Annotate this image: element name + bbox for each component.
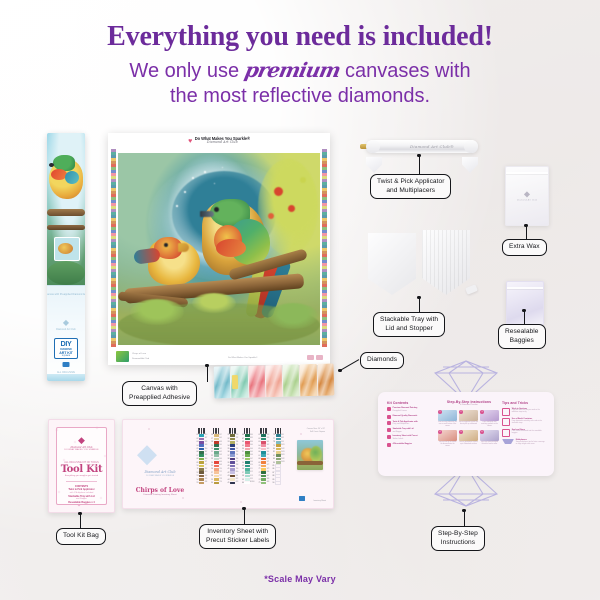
diamond-packet xyxy=(283,364,300,396)
inventory-color-code: 797 xyxy=(236,462,239,463)
instruction-step-image: 1 xyxy=(438,410,457,421)
subtitle-post: canvases with xyxy=(345,60,471,82)
inventory-row-number: 68 xyxy=(257,458,260,460)
inventory-row-number: 26 xyxy=(210,468,213,470)
inventory-color-column: 1643717445184981950020501215022250323504… xyxy=(210,426,223,485)
inventory-color-code: 3053 xyxy=(281,462,284,463)
kit-contents-text: Inventory Sheet with PrecutSticker Label… xyxy=(393,435,433,440)
inventory-color-swatch xyxy=(230,448,235,451)
inventory-color-code: 890 xyxy=(250,435,253,436)
inventory-color-code: 796 xyxy=(236,459,239,460)
inventory-row-number: 81 xyxy=(272,451,275,453)
inventory-row: 60B5200 xyxy=(241,481,254,484)
inventory-color-swatch xyxy=(214,458,219,461)
inventory-color-swatch xyxy=(199,478,204,481)
inventory-row: 15436 xyxy=(195,481,208,484)
inventory-color-swatch xyxy=(276,444,281,447)
canvas-footer: Chirps of Love Diamond Art Club Do What … xyxy=(108,347,330,365)
inventory-color-code: 792 xyxy=(236,449,239,450)
inventory-color-code: 793 xyxy=(236,452,239,453)
inventory-row-number: 77 xyxy=(272,438,275,440)
kit-contents-item-desc: and Stopper xyxy=(393,431,433,433)
inventory-color-swatch xyxy=(261,465,266,468)
callout-tool-kit[interactable]: Tool Kit Bag xyxy=(56,528,106,545)
inventory-color-code: 959 xyxy=(267,438,270,439)
kit-contents-item-desc: Preapplied Canvas xyxy=(393,410,433,412)
inventory-color-swatch xyxy=(245,454,250,457)
subtitle-script-word: premium xyxy=(242,58,342,83)
callout-canvas-l2: Preapplied Adhesive xyxy=(129,394,190,401)
canvas-thumbnail-icon xyxy=(116,351,129,362)
callout-extra-wax[interactable]: Extra Wax xyxy=(502,239,547,256)
inventory-color-swatch xyxy=(214,471,219,474)
inventory-color-code: 368 xyxy=(205,455,208,456)
inventory-row-number: 09 xyxy=(195,462,198,464)
steps-grid: 1Peel back the protective film over a sm… xyxy=(438,410,500,448)
callout-applicator-l2: and Multiplacers xyxy=(386,187,435,194)
callout-canvas-l1: Canvas with xyxy=(141,385,177,392)
inventory-row-number: 63 xyxy=(257,441,260,443)
inventory-color-code: 606 xyxy=(219,462,222,463)
pen-brand-text: Diamond Art Club® xyxy=(410,144,454,149)
inventory-color-code: 392 xyxy=(205,469,208,470)
inventory-row: 30729 xyxy=(210,481,223,484)
inventory-color-code: 504 xyxy=(219,459,222,460)
inventory-row-number: 29 xyxy=(210,479,213,481)
inventory-color-code: 435 xyxy=(205,479,208,480)
inventory-row-number: 32 xyxy=(226,438,229,440)
inventory-artwork-thumbnail xyxy=(297,440,323,470)
kit-contents-bullet-icon xyxy=(387,415,391,419)
diy-badge: DIY DIAMOND ART KIT SQUARE xyxy=(54,338,78,359)
inventory-row-number: 69 xyxy=(257,462,260,464)
inventory-color-column: 4689047895488994990050904519055290653907… xyxy=(241,426,254,485)
inventory-row-number: 48 xyxy=(241,441,244,443)
sleeve-flag-icon xyxy=(63,362,70,367)
leader-line-tray xyxy=(419,298,420,312)
leader-line-toolkit xyxy=(80,514,81,528)
inventory-color-code: 369 xyxy=(205,459,208,460)
inventory-color-swatch xyxy=(261,475,266,478)
tips-heading: Tips and Tricks xyxy=(502,401,546,405)
inventory-color-code: 732 xyxy=(236,438,239,439)
heart-icon: ♥ xyxy=(188,138,192,145)
inventory-color-swatch xyxy=(214,465,219,468)
inventory-color-swatch xyxy=(245,478,250,481)
inventory-row-number: 65 xyxy=(257,448,260,450)
toolkit-item-name: Resealable Baggies x 4 xyxy=(57,501,106,504)
inventory-row-number: 31 xyxy=(226,434,229,436)
instruction-step-caption: Dip the applicator tip into the wax to p… xyxy=(459,422,478,426)
inventory-color-swatch xyxy=(261,471,266,474)
leader-line-instructions xyxy=(464,511,465,526)
inventory-row-number: 25 xyxy=(210,465,213,467)
inventory-row-number: 78 xyxy=(272,441,275,443)
inventory-row-number: 79 xyxy=(272,445,275,447)
callout-tool-kit-l1: Tool Kit Bag xyxy=(63,532,99,539)
inventory-color-swatch xyxy=(199,438,204,441)
inventory-row-number: 45 xyxy=(226,482,229,484)
inventory-row-number: 15 xyxy=(195,482,198,484)
inventory-row-number: 86 xyxy=(272,468,275,470)
diamond-packet xyxy=(231,366,248,398)
inventory-color-code: 501 xyxy=(219,449,222,450)
tip-text: MultiplacersSwap multiplacer tips for fa… xyxy=(516,439,546,446)
leader-line-applicator xyxy=(419,156,420,174)
inventory-color-code: 327 xyxy=(205,438,208,439)
inventory-color-code: 801 xyxy=(236,476,239,477)
canvas-foot-title: Chirps of Love xyxy=(132,353,146,355)
canvas-brand: Diamond Art Club xyxy=(207,141,238,144)
leader-line-diamonds xyxy=(340,359,360,371)
kit-contents-item: Twist & Pick Applicator withPutty and Mu… xyxy=(387,421,433,426)
inventory-color-code: 906 xyxy=(250,455,253,456)
instruction-step-caption: Use the multiplacer to place up to 9 dia… xyxy=(459,442,478,446)
inventory-color-code: 971 xyxy=(267,462,270,463)
scale-disclaimer: *Scale May Vary xyxy=(0,574,600,584)
tip-multiplacer-icon xyxy=(502,439,514,444)
inventory-row-number: 13 xyxy=(195,475,198,477)
instruction-step-caption: Place diamonds onto matching symbols on … xyxy=(480,422,499,428)
inventory-row-number: 90 xyxy=(272,482,275,484)
inventory-bottom-note: Inventory Sheet xyxy=(313,500,326,502)
extra-wax-bag: ◆ Diamond Art Club xyxy=(505,166,549,226)
inventory-color-swatch xyxy=(230,454,235,457)
inventory-row-number: 12 xyxy=(195,472,198,474)
toolkit-diamond-icon: ◆ xyxy=(57,435,106,446)
inventory-color-code: 420 xyxy=(205,472,208,473)
callout-diamonds[interactable]: Diamonds xyxy=(360,352,404,369)
inventory-color-code: 800 xyxy=(236,472,239,473)
inventory-color-swatch xyxy=(199,441,204,444)
inventory-color-code: 433 xyxy=(205,476,208,477)
inventory-color-swatch xyxy=(199,458,204,461)
inventory-color-swatch xyxy=(214,454,219,457)
inventory-row-number: 62 xyxy=(257,438,260,440)
inventory-row-number: 75 xyxy=(257,482,260,484)
kit-contents-text: Stackable Tray with Lidand Stopper xyxy=(393,428,433,433)
kit-contents-item-name: Diamond Quality Diamonds xyxy=(393,415,433,418)
instruction-step-number: 6 xyxy=(480,430,484,434)
tip-item: MultiplacersSwap multiplacer tips for fa… xyxy=(502,439,546,446)
kit-contents-item: Stackable Tray with Lidand Stopper xyxy=(387,428,433,433)
inventory-color-code: 822 xyxy=(236,479,239,480)
inventory-color-swatch xyxy=(230,468,235,471)
inventory-color-swatch xyxy=(261,482,266,485)
inventory-row-number: 76 xyxy=(272,434,275,436)
inventory-color-swatch xyxy=(199,465,204,468)
inventory-row-number: 57 xyxy=(241,472,244,474)
inventory-color-swatch xyxy=(230,471,235,474)
inventory-color-columns: 0131002327033330434005350063670736808369… xyxy=(195,426,285,485)
inventory-row-number: 46 xyxy=(241,434,244,436)
inventory-row-number: 27 xyxy=(210,472,213,474)
inventory-color-swatch xyxy=(261,441,266,444)
inventory-color-code: 958 xyxy=(267,435,270,436)
tip-item: Use a Washi ContainerKeep diamonds sorte… xyxy=(502,418,546,426)
inventory-color-swatch xyxy=(245,441,250,444)
inventory-row-number: 01 xyxy=(195,434,198,436)
inventory-row-number: 33 xyxy=(226,441,229,443)
tip-item: Work in SectionsOnly peel back the film … xyxy=(502,408,546,416)
inventory-color-swatch xyxy=(261,438,266,441)
inventory-color-swatch xyxy=(230,458,235,461)
sleeve-info-panel: Premium Canvas with Preapplied Diamond A… xyxy=(47,285,85,381)
inventory-row-number: 43 xyxy=(226,475,229,477)
inventory-row-number: 64 xyxy=(257,445,260,447)
inventory-color-code: 3013 xyxy=(281,452,284,453)
stackable-tray-lid xyxy=(368,233,416,295)
inventory-color-code: 720 xyxy=(219,469,222,470)
inventory-color-code: 963 xyxy=(267,449,270,450)
callout-applicator[interactable]: Twist & Pick Applicatorand Multiplacers xyxy=(370,174,451,199)
inventory-color-swatch xyxy=(214,482,219,485)
inventory-color-code: 445 xyxy=(219,438,222,439)
inventory-color-swatch xyxy=(199,448,204,451)
inventory-color-swatch xyxy=(230,482,235,485)
inventory-color-swatch xyxy=(230,461,235,464)
callout-baggies[interactable]: ResealableBaggies xyxy=(498,324,546,349)
callout-canvas[interactable]: Canvas withPreapplied Adhesive xyxy=(122,381,197,406)
inventory-color-swatch xyxy=(245,448,250,451)
inventory-row-number: 73 xyxy=(257,475,260,477)
inventory-column-group: 6195862959639616496265963669646796668970… xyxy=(257,426,285,485)
kit-contents-item-desc: Putty and Multiplacers xyxy=(393,423,433,425)
inventory-color-code: 966 xyxy=(267,455,270,456)
leader-line-inventory xyxy=(244,509,245,524)
inventory-color-swatch xyxy=(261,461,266,464)
tray-ridges xyxy=(422,230,470,295)
inventory-row-number: 72 xyxy=(257,472,260,474)
diy-badge-line4: SQUARE xyxy=(55,355,77,357)
kit-contents-bullet-icon xyxy=(387,443,391,447)
callout-instructions-l2: Instructions xyxy=(441,539,475,546)
inventory-color-swatch xyxy=(199,454,204,457)
toolkit-title: Tool Kit xyxy=(57,464,106,475)
inventory-color-code: 913 xyxy=(250,476,253,477)
inventory-color-swatch xyxy=(214,461,219,464)
inventory-color-code: 728 xyxy=(219,479,222,480)
inventory-row-number: 11 xyxy=(195,468,198,470)
inventory-color-code: 791 xyxy=(236,445,239,446)
instruction-step-number: 3 xyxy=(480,410,484,414)
inventory-color-code: 909 xyxy=(250,462,253,463)
inventory-row-number: 39 xyxy=(226,462,229,464)
inventory-row-number: 58 xyxy=(241,475,244,477)
inventory-color-swatch xyxy=(244,482,249,485)
tip-swatch-icon xyxy=(502,408,510,416)
instruction-step-number: 4 xyxy=(438,430,442,434)
canvas-header: ♥ Do What Makes You Sparkle® Diamond Art… xyxy=(108,133,330,149)
inventory-color-code: 993 xyxy=(281,442,284,443)
inventory-color-code: 973 xyxy=(267,469,270,470)
inventory-color-code: 500 xyxy=(219,445,222,446)
instruction-step-number: 2 xyxy=(459,410,463,414)
inventory-color-swatch xyxy=(245,434,250,437)
inventory-color-code: 367 xyxy=(205,452,208,453)
callout-instructions[interactable]: Step-By-StepInstructions xyxy=(431,526,485,551)
inventory-color-code: 340 xyxy=(205,445,208,446)
inventory-color-swatch xyxy=(276,448,281,451)
kit-contents-bullet-icon xyxy=(387,421,391,425)
kit-contents-item: Premium Diamond PaintingPreapplied Canva… xyxy=(387,407,433,412)
inventory-color-code: 989 xyxy=(267,482,270,483)
canvas-color-key-right xyxy=(322,149,327,347)
diamond-packet xyxy=(317,363,334,395)
kit-contents-item: Inventory Sheet with PrecutSticker Label… xyxy=(387,435,433,440)
inventory-color-code: 899 xyxy=(250,442,253,443)
inventory-color-swatch xyxy=(245,471,250,474)
inventory-note: Drill Count: Square xyxy=(307,431,325,434)
inventory-color-swatch xyxy=(276,434,281,437)
instruction-sheet-body: Kit Contents Premium Diamond PaintingPre… xyxy=(378,392,554,476)
sleeve-artwork xyxy=(47,133,85,285)
sticker-label-tabs xyxy=(241,426,254,434)
inventory-row-number: 08 xyxy=(195,458,198,460)
inventory-color-code: 912 xyxy=(250,472,253,473)
infographic-canvas: Everything you need is included! We only… xyxy=(0,0,600,600)
instruction-step-caption: Twist the tool tip to unload the diamond… xyxy=(438,442,457,448)
tips-section: Tips and Tricks Work in SectionsOnly pee… xyxy=(502,401,546,446)
inventory-color-column: 7699177992789937930118030128130138230518… xyxy=(272,426,285,485)
inventory-row-number: 82 xyxy=(272,455,275,457)
inventory-color-code: 905 xyxy=(250,452,253,453)
diamond-logo-icon: ◆ xyxy=(62,318,71,327)
inventory-color-swatch xyxy=(214,441,219,444)
steps-section: Step-By-Step Instructions & Diamond Trac… xyxy=(438,400,500,448)
tip-item: Seal and StorePour leftover diamonds int… xyxy=(502,429,546,437)
inventory-color-swatch xyxy=(261,458,266,461)
inventory-color-swatch xyxy=(245,468,250,471)
diamond-packet xyxy=(300,364,317,396)
kit-contents-bullet-icon xyxy=(387,407,391,411)
tips-list: Work in SectionsOnly peel back the film … xyxy=(502,408,546,447)
callout-inventory[interactable]: Inventory Sheet withPrecut Sticker Label… xyxy=(199,524,276,549)
inventory-row-number: 85 xyxy=(272,465,275,467)
subtitle-line2: the most reflective diamonds. xyxy=(0,84,600,109)
inventory-top-notes: Canvas Size: 20" x 20" Drill Count: Squa… xyxy=(307,428,325,433)
leader-line-baggies xyxy=(524,311,525,324)
page-title: Everything you need is included! xyxy=(0,22,600,51)
inventory-color-swatch xyxy=(214,475,219,478)
instruction-step-image: 4 xyxy=(438,430,457,441)
tip-text: Use a Washi ContainerKeep diamonds sorte… xyxy=(512,418,546,425)
inventory-column-group: 0131002327033330434005350063670736808369… xyxy=(195,426,223,485)
multiplacer-left xyxy=(366,157,382,173)
tool-kit-bag: ◆ Diamond Art Club DO WHAT MAKES YOU SPA… xyxy=(48,419,115,513)
stackable-tray xyxy=(422,230,470,295)
inventory-color-swatch xyxy=(261,454,266,457)
inventory-color-column: 3173032732337343479135792367933779438796… xyxy=(226,426,239,485)
inventory-row-number: 36 xyxy=(226,451,229,453)
toolkit-brand-sub: DO WHAT MAKES YOU SPARKLE xyxy=(57,449,106,452)
inventory-color-swatch xyxy=(230,451,235,454)
inventory-color-swatch xyxy=(245,465,250,468)
inventory-color-swatch xyxy=(199,461,204,464)
inventory-color-code: 987 xyxy=(267,476,270,477)
kit-contents-item-desc: Sticker Labels xyxy=(393,438,433,440)
inventory-color-swatch xyxy=(214,451,219,454)
inventory-color-swatch xyxy=(214,444,219,447)
inventory-color-swatch xyxy=(214,438,219,441)
tip-desc: Pour leftover diamonds into the resealab… xyxy=(512,431,546,435)
callout-baggies-l2: Baggies xyxy=(510,337,534,344)
wax-bag-logo: ◆ Diamond Art Club xyxy=(517,191,537,202)
diamond-packet xyxy=(248,365,265,397)
step-by-step-instruction-sheet: Kit Contents Premium Diamond PaintingPre… xyxy=(378,360,554,507)
callout-applicator-l1: Twist & Pick Applicator xyxy=(377,178,444,185)
diamond-packet xyxy=(214,366,231,398)
inventory-row-number: 60 xyxy=(241,482,244,484)
packet-label-icon xyxy=(232,375,238,389)
diamond-packet xyxy=(265,365,282,397)
inventory-color-code: 794 xyxy=(236,455,239,456)
callout-instructions-l1: Step-By-Step xyxy=(438,530,478,537)
inventory-color-code: 3052 xyxy=(281,459,284,460)
kit-contents-section: Kit Contents Premium Diamond PaintingPre… xyxy=(387,401,433,447)
inventory-color-swatch xyxy=(261,444,266,447)
inventory-color-swatch xyxy=(214,478,219,481)
toolkit-subtitle: Everything you need to get started xyxy=(57,475,106,478)
callout-tray[interactable]: Stackable Tray withLid and Stopper xyxy=(373,312,445,337)
sticker-label-tabs xyxy=(226,426,239,434)
inventory-color-swatch xyxy=(261,468,266,471)
instruction-step: 4Twist the tool tip to unload the diamon… xyxy=(438,430,457,448)
inventory-color-code: 823 xyxy=(236,482,239,483)
diamond-glyph-icon: ◆ xyxy=(517,191,537,199)
inventory-color-code: 3051 xyxy=(281,455,284,456)
canvas-artwork xyxy=(118,153,320,345)
inventory-color-code: 972 xyxy=(267,465,270,466)
inventory-row-number: 02 xyxy=(195,438,198,440)
instruction-step-number: 5 xyxy=(459,430,463,434)
kit-contents-bullet-icon xyxy=(387,435,391,439)
inventory-subtitle: Diamond Painting Inventory Sheet xyxy=(132,494,188,496)
inventory-color-code: 904 xyxy=(250,449,253,450)
canvas-foot-tagline: Do What Makes You Sparkle® xyxy=(228,357,257,359)
inventory-color-code: 799 xyxy=(236,469,239,470)
inventory-row-number: 28 xyxy=(210,475,213,477)
tip-text: Work in SectionsOnly peel back the film … xyxy=(512,408,546,415)
tip-swatch-icon xyxy=(502,418,510,426)
inventory-color-swatch xyxy=(245,475,250,478)
inventory-row: 75989 xyxy=(257,481,270,484)
inventory-color-code: 730 xyxy=(236,435,239,436)
leader-line-wax xyxy=(526,226,527,239)
instruction-step-image: 2 xyxy=(459,410,478,421)
inventory-flag-icon xyxy=(299,496,305,501)
inventory-color-swatch xyxy=(230,434,235,437)
inventory-color-code: 372 xyxy=(205,465,208,466)
canvas-foot-brand: Diamond Art Club xyxy=(132,358,149,360)
inventory-column-group: 3173032732337343479135792367933779438796… xyxy=(226,426,254,485)
inventory-color-swatch xyxy=(275,481,281,486)
inventory-color-swatch xyxy=(245,461,250,464)
kit-contents-text: 4 Resealable Baggies xyxy=(393,443,433,446)
kit-contents-text: Premium Diamond PaintingPreapplied Canva… xyxy=(393,407,433,412)
instruction-step: 2Dip the applicator tip into the wax to … xyxy=(459,410,478,428)
inventory-color-swatch xyxy=(261,448,266,451)
inventory-color-code: 962 xyxy=(267,445,270,446)
inventory-row-number: 80 xyxy=(272,448,275,450)
inventory-row-number: 70 xyxy=(257,465,260,467)
instruction-step-number: 1 xyxy=(438,410,442,414)
inventory-color-swatch xyxy=(199,434,204,437)
inventory-brand: Diamond Art Club xyxy=(132,470,188,474)
subtitle-pre: We only use xyxy=(129,60,239,82)
inventory-row-number: 51 xyxy=(241,451,244,453)
sleeve-brand: Diamond Art Club xyxy=(56,329,76,331)
